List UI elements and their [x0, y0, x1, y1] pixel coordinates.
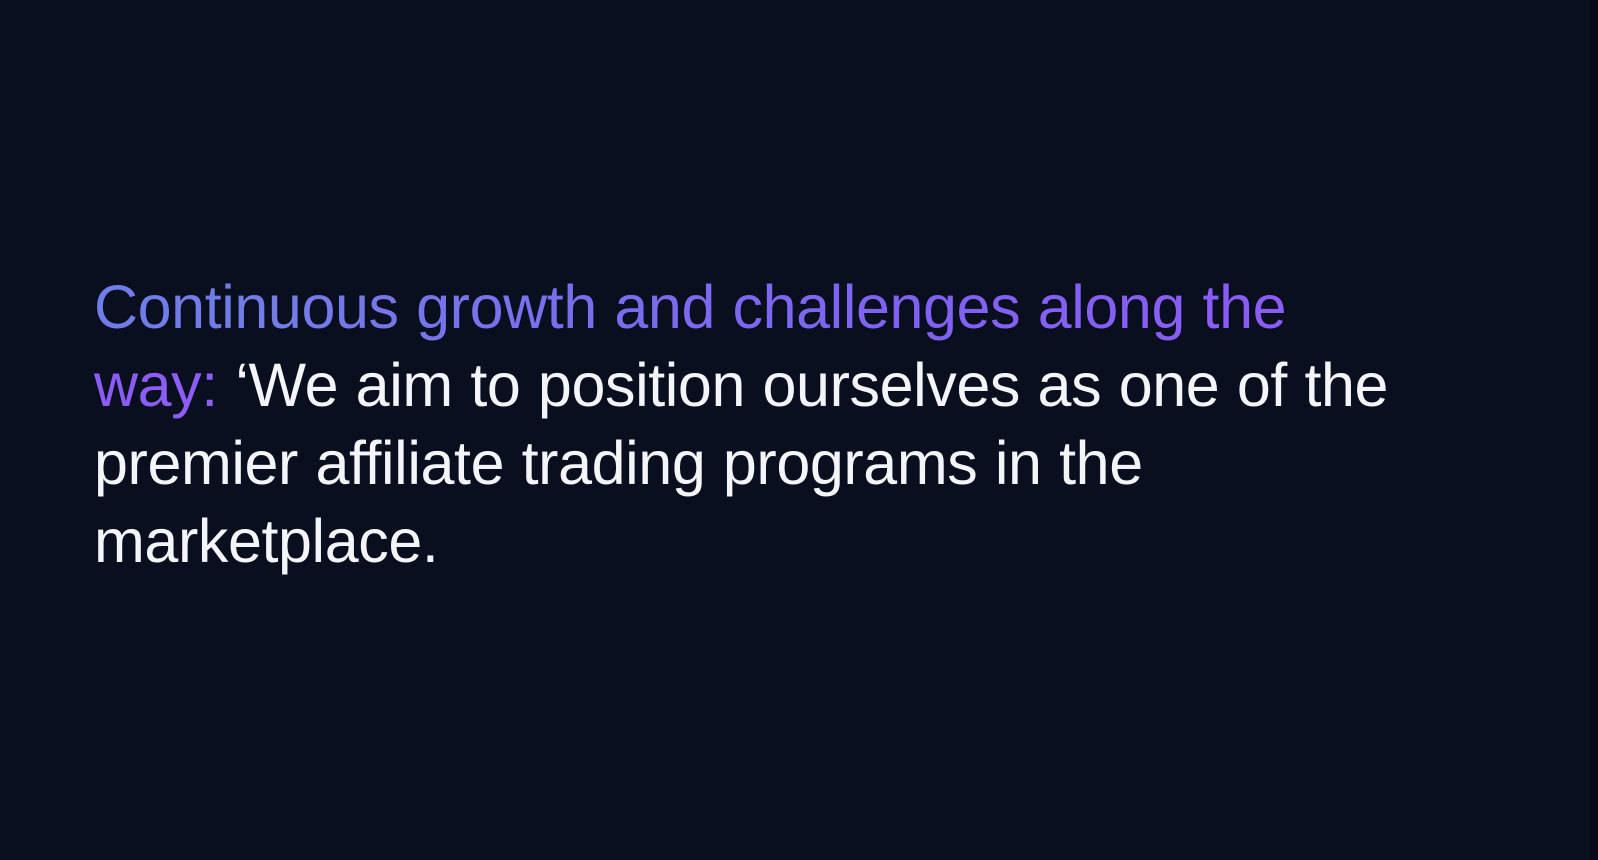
- quote-slide: Continuous growth and challenges along t…: [0, 0, 1598, 860]
- page-right-gutter: [1590, 0, 1598, 860]
- pull-quote: Continuous growth and challenges along t…: [94, 268, 1394, 580]
- quote-body-text: ‘We aim to position ourselves as one of …: [94, 351, 1388, 575]
- quote-block: Continuous growth and challenges along t…: [94, 268, 1394, 580]
